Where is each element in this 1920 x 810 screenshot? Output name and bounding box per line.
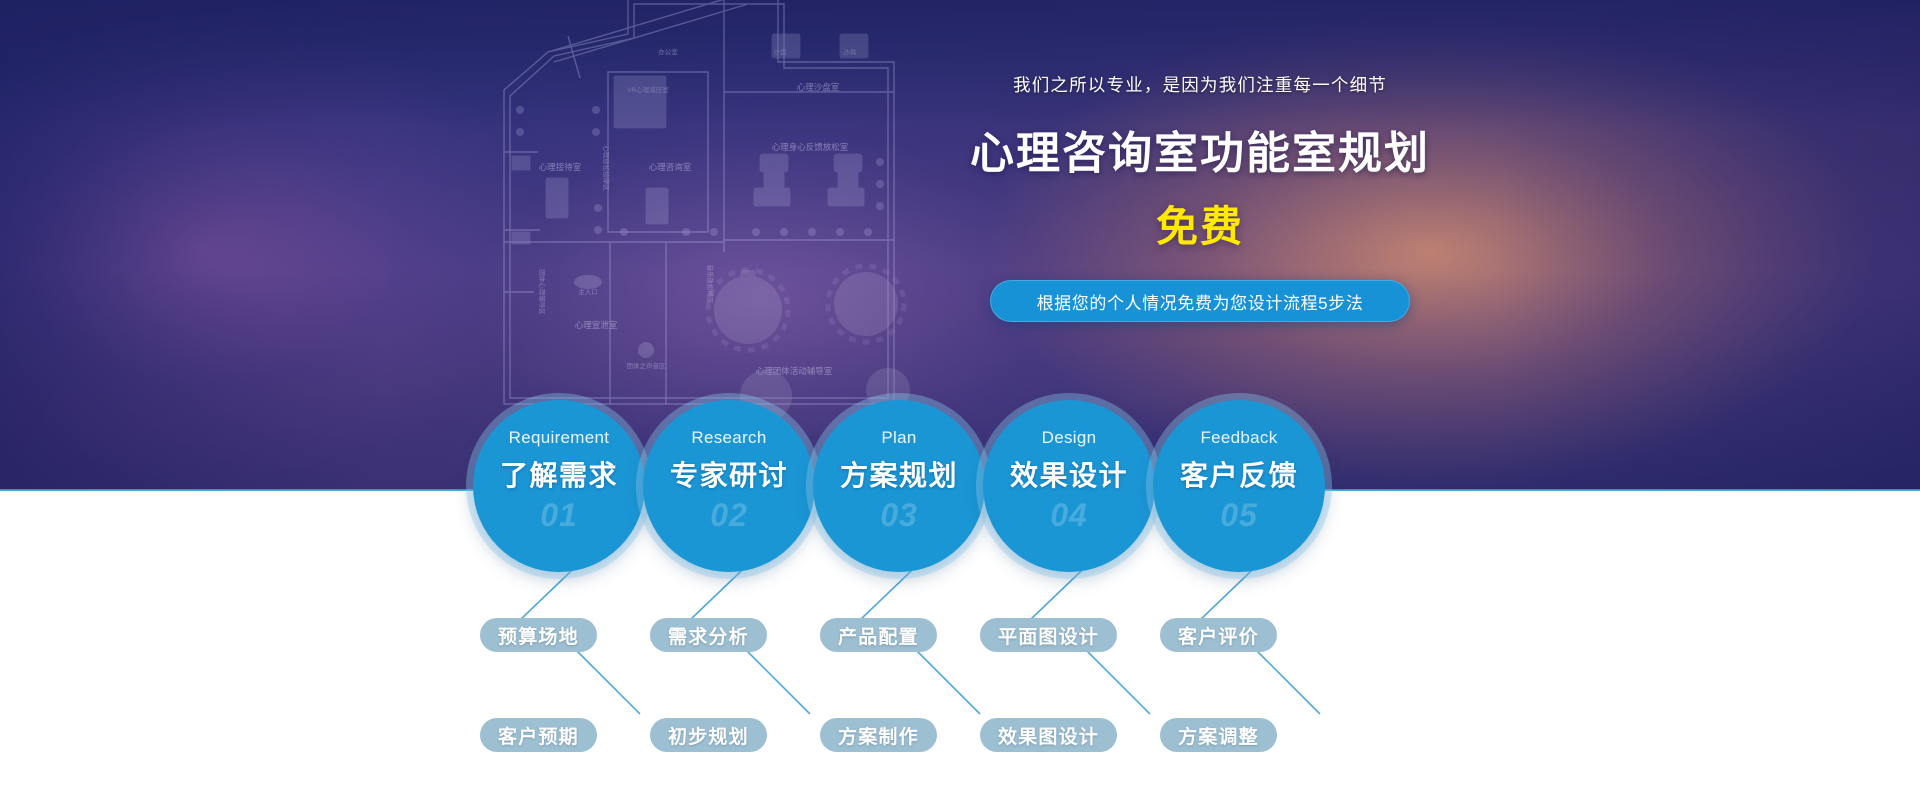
step-tag[interactable]: 预算场地 [480,618,597,652]
step-tag[interactable]: 效果图设计 [980,718,1117,752]
step-tag[interactable]: 平面图设计 [980,618,1117,652]
step-circle-requirement[interactable]: Requirement 了解需求 01 [473,400,645,572]
step-tag[interactable]: 需求分析 [650,618,767,652]
step-cn-label: 客户反馈 [1180,454,1298,494]
step-tag[interactable]: 产品配置 [820,618,937,652]
step-cn-label: 效果设计 [1010,454,1128,494]
step-circle-design[interactable]: Design 效果设计 04 [983,400,1155,572]
step-circle-feedback[interactable]: Feedback 客户反馈 05 [1153,400,1325,572]
step-number: 02 [710,497,748,534]
step-circle-plan[interactable]: Plan 方案规划 03 [813,400,985,572]
step-en-label: Plan [881,428,916,448]
step-cn-label: 专家研讨 [670,454,788,494]
step-number: 01 [540,497,578,534]
step-en-label: Research [691,428,766,448]
step-tag[interactable]: 客户预期 [480,718,597,752]
step-en-label: Requirement [509,428,610,448]
step-number: 03 [880,497,918,534]
step-number: 04 [1050,497,1088,534]
step-tag[interactable]: 方案调整 [1160,718,1277,752]
step-cn-label: 方案规划 [840,454,958,494]
step-tag[interactable]: 方案制作 [820,718,937,752]
banner-stage: 心理沙盘室 心理身心反馈放松室 心理接待室 心理咨询室 心理宣泄室 心理团体活动… [0,0,1920,810]
step-number: 05 [1220,497,1258,534]
process-steps: Requirement 了解需求 01 预算场地 客户预期 Research 专… [0,0,1920,810]
step-tag[interactable]: 初步规划 [650,718,767,752]
step-en-label: Design [1042,428,1097,448]
step-circle-research[interactable]: Research 专家研讨 02 [643,400,815,572]
step-en-label: Feedback [1200,428,1277,448]
step-cn-label: 了解需求 [500,454,618,494]
step-tag[interactable]: 客户评价 [1160,618,1277,652]
